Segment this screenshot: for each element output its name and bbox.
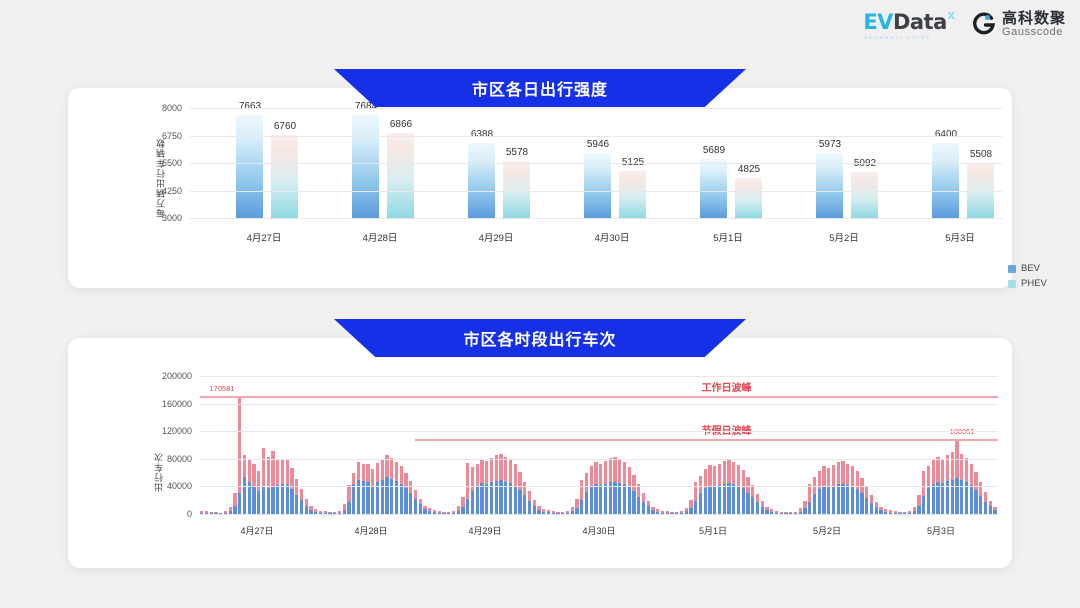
chart2-stacked-bar[interactable] bbox=[841, 461, 844, 514]
chart2-segment-phev bbox=[357, 462, 360, 480]
chart2-stacked-bar[interactable] bbox=[257, 471, 260, 514]
chart2-stacked-bar[interactable] bbox=[746, 477, 749, 514]
chart2-stacked-bar[interactable] bbox=[305, 499, 308, 514]
chart2-segment-phev bbox=[352, 473, 355, 484]
chart2-y-tick: 200000 bbox=[162, 371, 192, 381]
chart2-segment-phev bbox=[271, 451, 274, 487]
chart2-segment-bev bbox=[385, 477, 388, 514]
chart2-stacked-bar[interactable] bbox=[737, 465, 740, 514]
chart2-segment-bev bbox=[704, 488, 707, 514]
chart2-segment-bev bbox=[732, 484, 735, 514]
chart2-segment-phev bbox=[262, 448, 265, 486]
chart2-segment-phev bbox=[732, 462, 735, 484]
chart2-segment-phev bbox=[395, 462, 398, 481]
chart2-stacked-bar[interactable] bbox=[751, 485, 754, 514]
chart2-stacked-bar[interactable] bbox=[927, 466, 930, 514]
chart1-bar-phev[interactable] bbox=[851, 172, 878, 218]
chart1-bar-value: 5508 bbox=[951, 149, 1011, 160]
chart2-stacked-bar[interactable] bbox=[343, 504, 346, 514]
chart2-segment-phev bbox=[628, 467, 631, 487]
chart2-y-tick: 120000 bbox=[162, 426, 192, 436]
chart2-segment-bev bbox=[594, 484, 597, 514]
chart2-gridline bbox=[200, 459, 998, 460]
chart2-segment-phev bbox=[461, 497, 464, 507]
chart2-stacked-bar[interactable] bbox=[604, 461, 607, 514]
chart2-stacked-bar[interactable] bbox=[466, 463, 469, 514]
chart1-y-tick: 6750 bbox=[162, 131, 182, 141]
chart2-segment-bev bbox=[875, 507, 878, 514]
chart2-stacked-bar[interactable] bbox=[822, 466, 825, 514]
gausscode-mark-icon bbox=[971, 12, 997, 38]
chart2-segment-bev bbox=[286, 484, 289, 514]
chart2-segment-bev bbox=[718, 485, 721, 514]
chart2-segment-phev bbox=[713, 466, 716, 486]
gausscode-logo-cn: 高科数聚 bbox=[1002, 11, 1066, 27]
chart2-stacked-bar[interactable] bbox=[856, 471, 859, 514]
chart2-annotation-line-weekday-peak bbox=[200, 396, 998, 397]
chart2-segment-bev bbox=[305, 506, 308, 514]
chart2-stacked-bar[interactable] bbox=[423, 506, 426, 514]
chart2-stacked-bar[interactable] bbox=[243, 455, 246, 514]
chart1-card: 每万辆出行车辆数 30004250550067508000 7663676076… bbox=[68, 88, 1012, 288]
chart2-title-banner: 市区各时段出行车次 bbox=[334, 319, 746, 357]
chart2-segment-bev bbox=[746, 493, 749, 514]
chart2-segment-bev bbox=[737, 486, 740, 514]
chart1-bar-phev[interactable] bbox=[271, 135, 298, 218]
chart2-stacked-bar[interactable] bbox=[865, 486, 868, 514]
chart2-segment-phev bbox=[267, 457, 270, 487]
chart2-stacked-bar[interactable] bbox=[309, 506, 312, 514]
chart2-stacked-bar[interactable] bbox=[879, 507, 882, 514]
chart2-segment-bev bbox=[585, 492, 588, 514]
chart2-segment-bev bbox=[509, 483, 512, 514]
chart2-y-tick: 80000 bbox=[167, 454, 192, 464]
chart2-segment-bev bbox=[290, 489, 293, 514]
chart2-segment-bev bbox=[414, 499, 417, 514]
chart2-stacked-bar[interactable] bbox=[813, 477, 816, 514]
chart2-segment-phev bbox=[504, 457, 507, 482]
chart2-stacked-bar[interactable] bbox=[974, 472, 977, 514]
chart2-segment-bev bbox=[647, 506, 650, 514]
chart2-segment-bev bbox=[761, 507, 764, 514]
chart2-segment-phev bbox=[642, 493, 645, 502]
chart2-stacked-bar[interactable] bbox=[936, 457, 939, 514]
chart2-title: 市区各时段出行车次 bbox=[463, 326, 616, 350]
chart2-segment-phev bbox=[490, 458, 493, 482]
chart2-segment-phev bbox=[618, 460, 621, 483]
chart2-stacked-bar[interactable] bbox=[689, 500, 692, 514]
chart2-segment-bev bbox=[233, 506, 236, 514]
chart2-segment-bev bbox=[756, 502, 759, 514]
chart2-stacked-bar[interactable] bbox=[400, 466, 403, 514]
chart2-x-tick: 5月2日 bbox=[813, 524, 841, 537]
chart2-x-tick: 5月1日 bbox=[699, 524, 727, 537]
chart1-gridline bbox=[190, 108, 1002, 109]
chart2-stacked-bar[interactable] bbox=[362, 464, 365, 514]
chart1-bar-value: 5973 bbox=[800, 139, 860, 150]
chart2-segment-phev bbox=[276, 459, 279, 485]
chart2-segment-phev bbox=[694, 482, 697, 501]
chart2-segment-phev bbox=[466, 463, 469, 499]
chart1-gridline bbox=[190, 136, 1002, 137]
evdata-logo-x-mark: x bbox=[948, 7, 955, 22]
chart2-stacked-bar[interactable] bbox=[993, 507, 996, 514]
chart2-segment-phev bbox=[837, 462, 840, 484]
chart2-segment-phev bbox=[699, 476, 702, 493]
chart2-segment-bev bbox=[271, 487, 274, 514]
chart2-segment-phev bbox=[599, 464, 602, 485]
chart2-segment-phev bbox=[528, 491, 531, 501]
chart2-segment-bev bbox=[808, 502, 811, 514]
chart2-segment-phev bbox=[984, 492, 987, 502]
chart2-segment-bev bbox=[604, 484, 607, 514]
chart2-segment-phev bbox=[727, 460, 730, 483]
chart2-stacked-bar[interactable] bbox=[647, 501, 650, 514]
chart2-segment-phev bbox=[737, 465, 740, 486]
chart2-y-tick: 40000 bbox=[167, 481, 192, 491]
chart2-segment-phev bbox=[689, 500, 692, 508]
chart2-segment-phev bbox=[979, 482, 982, 496]
chart2-stacked-bar[interactable] bbox=[960, 454, 963, 514]
evdata-logo-prefix: EV bbox=[863, 10, 893, 34]
chart2-segment-bev bbox=[476, 486, 479, 514]
chart2-stacked-bar[interactable] bbox=[229, 507, 232, 514]
chart2-stacked-bar[interactable] bbox=[637, 484, 640, 514]
chart1-bar-phev[interactable] bbox=[387, 133, 414, 218]
chart2-segment-bev bbox=[267, 488, 270, 514]
chart2-segment-bev bbox=[381, 480, 384, 515]
chart2-annotation-value-weekday-peak: 170581 bbox=[209, 384, 234, 393]
chart1-bar-bev[interactable] bbox=[352, 115, 379, 218]
chart2-stacked-bar[interactable] bbox=[518, 472, 521, 514]
chart2-segment-phev bbox=[233, 493, 236, 505]
chart2-stacked-bar[interactable] bbox=[818, 471, 821, 514]
chart2-segment-phev bbox=[803, 501, 806, 509]
chart2-segment-bev bbox=[970, 485, 973, 514]
chart2-stacked-bar[interactable] bbox=[989, 501, 992, 514]
chart2-y-tick: 0 bbox=[187, 509, 192, 519]
chart2-stacked-bar[interactable] bbox=[628, 467, 631, 514]
chart2-stacked-bar[interactable] bbox=[233, 493, 236, 514]
chart2-segment-phev bbox=[613, 457, 616, 482]
chart2-stacked-bar[interactable] bbox=[461, 497, 464, 514]
chart2-segment-phev bbox=[580, 480, 583, 501]
chart2-stacked-bar[interactable] bbox=[590, 466, 593, 514]
chart2-stacked-bar[interactable] bbox=[580, 480, 583, 515]
chart2-gridline bbox=[200, 404, 998, 405]
chart2-x-tick: 4月28日 bbox=[354, 524, 387, 537]
chart2-stacked-bar[interactable] bbox=[414, 490, 417, 514]
chart2-y-axis-title: 出行车次 bbox=[152, 404, 165, 492]
chart2-segment-phev bbox=[917, 495, 920, 506]
chart2-segment-bev bbox=[984, 502, 987, 514]
chart2-stacked-bar[interactable] bbox=[742, 470, 745, 514]
chart2-segment-bev bbox=[708, 486, 711, 514]
chart2-segment-phev bbox=[609, 458, 612, 482]
chart2-x-tick: 4月29日 bbox=[468, 524, 501, 537]
chart2-stacked-bar[interactable] bbox=[533, 500, 536, 514]
chart2-annotation-label-holiday-peak: 节假日波峰 bbox=[702, 422, 752, 437]
chart2-segment-bev bbox=[404, 488, 407, 514]
chart2-segment-bev bbox=[623, 484, 626, 514]
chart2-segment-phev bbox=[476, 464, 479, 486]
chart2-segment-bev bbox=[846, 485, 849, 514]
chart2-segment-phev bbox=[400, 466, 403, 484]
chart2-stacked-bar[interactable] bbox=[765, 507, 768, 514]
chart2-stacked-bar[interactable] bbox=[357, 462, 360, 514]
chart2-stacked-bar[interactable] bbox=[528, 491, 531, 514]
chart2-stacked-bar[interactable] bbox=[537, 506, 540, 514]
chart2-stacked-bar[interactable] bbox=[651, 507, 654, 514]
chart2-segment-phev bbox=[941, 459, 944, 483]
chart2-segment-bev bbox=[927, 488, 930, 514]
chart2-stacked-bar[interactable] bbox=[366, 464, 369, 514]
chart2-segment-bev bbox=[642, 502, 645, 514]
chart2-segment-bev bbox=[751, 497, 754, 514]
chart2-stacked-bar[interactable] bbox=[485, 461, 488, 514]
chart1-y-tick: 8000 bbox=[162, 103, 182, 113]
chart2-segment-bev bbox=[851, 486, 854, 514]
chart2-segment-phev bbox=[822, 466, 825, 486]
chart2-segment-bev bbox=[694, 501, 697, 514]
chart1-bar-value: 6866 bbox=[371, 119, 431, 130]
chart2-stacked-bar[interactable] bbox=[571, 507, 574, 514]
chart2-stacked-bar[interactable] bbox=[946, 455, 949, 514]
chart2-stacked-bar[interactable] bbox=[575, 499, 578, 514]
chart2-segment-phev bbox=[590, 466, 593, 487]
chart2-card: 出行车次 04000080000120000160000200000 4月27日… bbox=[68, 338, 1012, 568]
chart2-segment-bev bbox=[352, 484, 355, 514]
chart2-segment-bev bbox=[533, 506, 536, 514]
chart2-segment-phev bbox=[951, 452, 954, 480]
chart2-segment-phev bbox=[371, 469, 374, 486]
chart2-gridline bbox=[200, 431, 998, 432]
chart2-stacked-bar[interactable] bbox=[623, 462, 626, 514]
chart2-stacked-bar[interactable] bbox=[476, 464, 479, 514]
chart2-segment-phev bbox=[390, 458, 393, 479]
chart2-stacked-bar[interactable] bbox=[827, 468, 830, 514]
chart1-gridline bbox=[190, 163, 1002, 164]
chart2-segment-phev bbox=[281, 459, 284, 484]
chart2-x-tick: 5月3日 bbox=[927, 524, 955, 537]
chart1-legend-item[interactable]: BEV bbox=[1008, 263, 1047, 274]
chart2-stacked-bar[interactable] bbox=[922, 471, 925, 514]
chart1-legend-label: PHEV bbox=[1021, 278, 1047, 289]
chart2-stacked-bar[interactable] bbox=[718, 464, 721, 514]
chart2-stacked-bar[interactable] bbox=[832, 465, 835, 514]
chart2-segment-bev bbox=[466, 499, 469, 514]
chart2-stacked-bar[interactable] bbox=[471, 467, 474, 514]
chart2-segment-bev bbox=[252, 486, 255, 514]
chart2-stacked-bar[interactable] bbox=[699, 476, 702, 514]
chart2-stacked-bar[interactable] bbox=[594, 462, 597, 514]
chart2-stacked-bar[interactable] bbox=[870, 495, 873, 514]
chart1-x-tick: 5月1日 bbox=[713, 230, 743, 244]
chart2-stacked-bar[interactable] bbox=[756, 494, 759, 514]
chart2-segment-bev bbox=[856, 489, 859, 514]
chart2-stacked-bar[interactable] bbox=[955, 439, 958, 514]
chart2-segment-bev bbox=[813, 494, 816, 514]
chart2-stacked-bar[interactable] bbox=[514, 464, 517, 514]
chart1-bar-value: 7663 bbox=[220, 101, 280, 112]
chart2-stacked-bar[interactable] bbox=[808, 484, 811, 514]
chart2-stacked-bar[interactable] bbox=[803, 501, 806, 514]
chart2-stacked-bar[interactable] bbox=[723, 461, 726, 514]
chart2-stacked-bar[interactable] bbox=[504, 457, 507, 514]
chart1-legend-label: BEV bbox=[1021, 263, 1040, 274]
evdata-logo-icon: EVData x SHANGHAI CHINA bbox=[863, 10, 955, 40]
chart2-stacked-bar[interactable] bbox=[395, 462, 398, 514]
chart2-stacked-bar[interactable] bbox=[585, 473, 588, 514]
chart2-stacked-bar[interactable] bbox=[238, 396, 241, 514]
chart2-stacked-bar[interactable] bbox=[495, 455, 498, 514]
chart2-segment-bev bbox=[960, 480, 963, 514]
chart2-stacked-bar[interactable] bbox=[599, 464, 602, 514]
chart2-segment-bev bbox=[713, 486, 716, 514]
chart2-stacked-bar[interactable] bbox=[404, 473, 407, 514]
chart2-stacked-bar[interactable] bbox=[347, 485, 350, 514]
chart2-segment-phev bbox=[347, 485, 350, 502]
chart2-stacked-bar[interactable] bbox=[499, 454, 502, 514]
chart2-segment-phev bbox=[718, 464, 721, 485]
chart1-legend: BEVPHEV bbox=[1008, 263, 1047, 289]
chart2-segment-bev bbox=[827, 487, 830, 514]
chart2-segment-phev bbox=[575, 499, 578, 508]
chart2-stacked-bar[interactable] bbox=[917, 495, 920, 514]
chart2-stacked-bar[interactable] bbox=[851, 466, 854, 514]
chart2-segment-bev bbox=[276, 485, 279, 514]
chart2-segment-phev bbox=[922, 471, 925, 496]
chart2-stacked-bar[interactable] bbox=[271, 451, 274, 514]
chart2-segment-phev bbox=[414, 490, 417, 499]
chart2-stacked-bar[interactable] bbox=[913, 507, 916, 514]
chart2-segment-phev bbox=[970, 464, 973, 485]
chart1-legend-swatch bbox=[1008, 265, 1016, 273]
chart2-stacked-bar[interactable] bbox=[290, 468, 293, 514]
chart2-segment-phev bbox=[927, 466, 930, 487]
chart1-bar-value: 5946 bbox=[568, 139, 628, 150]
chart2-segment-bev bbox=[409, 493, 412, 514]
chart2-segment-bev bbox=[865, 498, 868, 514]
chart2-segment-bev bbox=[955, 478, 958, 514]
chart2-stacked-bar[interactable] bbox=[371, 469, 374, 514]
chart1-bar-value: 5578 bbox=[487, 147, 547, 158]
chart2-segment-bev bbox=[400, 484, 403, 514]
chart2-x-tick: 4月30日 bbox=[582, 524, 615, 537]
chart2-segment-bev bbox=[518, 490, 521, 514]
chart2-segment-bev bbox=[860, 493, 863, 514]
chart1-x-tick: 5月2日 bbox=[829, 230, 859, 244]
chart2-stacked-bar[interactable] bbox=[713, 466, 716, 514]
chart2-segment-bev bbox=[917, 506, 920, 514]
chart2-stacked-bar[interactable] bbox=[300, 489, 303, 514]
chart2-stacked-bar[interactable] bbox=[732, 462, 735, 514]
chart2-segment-bev bbox=[922, 496, 925, 514]
chart2-segment-bev bbox=[300, 500, 303, 514]
presentation-slide: EVData x SHANGHAI CHINA 高科数聚 Gausscode 市… bbox=[0, 0, 1080, 608]
chart2-stacked-bar[interactable] bbox=[642, 493, 645, 514]
chart2-gridline bbox=[200, 514, 998, 515]
chart1-title-banner: 市区各日出行强度 bbox=[334, 69, 746, 107]
chart2-stacked-bar[interactable] bbox=[352, 473, 355, 514]
chart2-segment-phev bbox=[623, 462, 626, 484]
chart2-stacked-bar[interactable] bbox=[846, 464, 849, 514]
chart2-stacked-bar[interactable] bbox=[376, 463, 379, 514]
chart2-segment-phev bbox=[480, 460, 483, 483]
chart2-stacked-bar[interactable] bbox=[419, 499, 422, 514]
chart2-segment-phev bbox=[936, 457, 939, 482]
chart2-segment-bev bbox=[822, 486, 825, 514]
chart2-segment-bev bbox=[347, 502, 350, 514]
chart1-title: 市区各日出行强度 bbox=[472, 76, 608, 100]
chart2-segment-bev bbox=[837, 484, 840, 514]
chart2-stacked-bar[interactable] bbox=[761, 501, 764, 514]
chart2-segment-bev bbox=[590, 487, 593, 514]
chart1-legend-swatch bbox=[1008, 280, 1016, 288]
chart2-stacked-bar[interactable] bbox=[951, 452, 954, 514]
chart1-bar-phev[interactable] bbox=[735, 178, 762, 218]
chart2-segment-bev bbox=[632, 491, 635, 514]
evdata-logo-tagline: SHANGHAI CHINA bbox=[864, 35, 931, 40]
gausscode-logo-icon: 高科数聚 Gausscode bbox=[971, 11, 1066, 38]
chart2-segment-bev bbox=[295, 495, 298, 514]
chart1-bar-phev[interactable] bbox=[619, 171, 646, 218]
chart2-stacked-bar[interactable] bbox=[613, 457, 616, 514]
chart2-stacked-bar[interactable] bbox=[860, 478, 863, 514]
chart2-stacked-bar[interactable] bbox=[295, 479, 298, 514]
chart2-stacked-bar[interactable] bbox=[708, 465, 711, 514]
chart2-stacked-bar[interactable] bbox=[984, 492, 987, 514]
chart2-stacked-bar[interactable] bbox=[457, 506, 460, 514]
chart2-annotation-line-holiday-peak bbox=[415, 439, 998, 440]
chart2-stacked-bar[interactable] bbox=[837, 462, 840, 514]
chart1-legend-item[interactable]: PHEV bbox=[1008, 278, 1047, 289]
chart2-segment-phev bbox=[300, 489, 303, 500]
chart2-stacked-bar[interactable] bbox=[875, 502, 878, 514]
chart2-segment-bev bbox=[727, 483, 730, 514]
chart2-stacked-bar[interactable] bbox=[385, 455, 388, 514]
chart2-annotation-label-weekday-peak: 工作日波峰 bbox=[702, 379, 752, 394]
chart2-segment-bev bbox=[628, 487, 631, 514]
chart2-segment-bev bbox=[870, 503, 873, 514]
chart2-stacked-bar[interactable] bbox=[632, 475, 635, 514]
chart2-segment-bev bbox=[580, 500, 583, 514]
chart1-y-tick: 3000 bbox=[162, 213, 182, 223]
chart1-bar-value: 6760 bbox=[255, 121, 315, 132]
chart2-segment-bev bbox=[599, 485, 602, 514]
chart2-segment-bev bbox=[390, 479, 393, 514]
chart2-segment-bev bbox=[281, 484, 284, 514]
chart2-segment-bev bbox=[818, 489, 821, 514]
chart2-stacked-bar[interactable] bbox=[970, 464, 973, 514]
chart2-y-tick: 160000 bbox=[162, 399, 192, 409]
chart2-segment-bev bbox=[974, 490, 977, 514]
chart2-segment-bev bbox=[637, 497, 640, 514]
chart2-segment-bev bbox=[699, 493, 702, 514]
chart2-segment-bev bbox=[471, 491, 474, 514]
chart2-segment-bev bbox=[841, 484, 844, 514]
chart2-segment-bev bbox=[461, 507, 464, 514]
chart2-segment-bev bbox=[951, 480, 954, 515]
chart2-segment-bev bbox=[371, 486, 374, 514]
chart2-stacked-bar[interactable] bbox=[252, 464, 255, 514]
chart1-bar-value: 5689 bbox=[684, 145, 744, 156]
chart2-segment-bev bbox=[514, 486, 517, 514]
chart2-segment-bev bbox=[723, 484, 726, 514]
chart1-gridline bbox=[190, 191, 1002, 192]
chart2-stacked-bar[interactable] bbox=[704, 469, 707, 514]
chart2-segment-phev bbox=[756, 494, 759, 503]
